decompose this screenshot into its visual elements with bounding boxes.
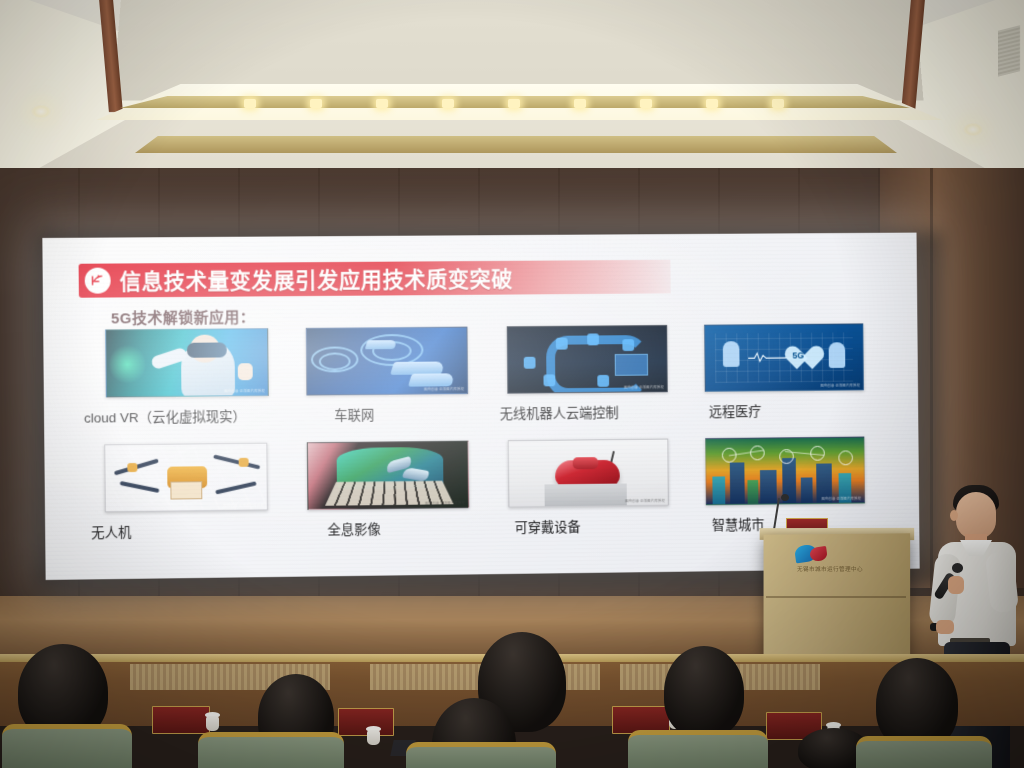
logo-red-shape [809,546,828,562]
slide-grid-cell: 图虫创意·正版图片库授权 无人机 [84,443,282,542]
doctor-icon [828,342,845,368]
ceiling-strip-light [706,99,718,108]
patient-icon [723,341,740,367]
ceiling-strip-light [640,99,652,108]
vehicle-shape [408,373,455,386]
slide-image-caption: 车联网 [334,403,480,424]
podium [764,533,911,656]
conference-room-scene: 信息技术量变发展引发应用技术质变突破 5G技术解锁新应用： [0,0,1024,768]
presenter-hand-on-mic [948,576,964,594]
image-watermark: 图虫创意·正版图片库授权 [424,386,464,391]
desk-nameplate [338,708,394,736]
building [760,470,777,504]
building [801,477,813,503]
ceiling-downlight [962,122,984,137]
slide-title: 信息技术量变发展引发应用技术质变突破 [119,262,513,296]
microphone-capsule-icon [952,563,963,573]
image-watermark: 图虫创意·正版图片库授权 [625,498,665,503]
image-watermark: 图虫创意·正版图片库授权 [624,384,664,389]
ceiling-downlight [30,104,52,119]
drone-rotor [213,454,260,469]
drone-motor [127,463,137,472]
cloud-robot-network-illustration: 图虫创意·正版图片库授权 [507,325,668,394]
organization-logo-icon [795,545,829,563]
ceiling-air-vent [998,25,1020,76]
presenter-ear [950,510,958,521]
audience-chair [856,736,992,768]
badge-5g: 5G [792,351,804,361]
vr-person-hand [238,363,253,380]
drone-motor [239,458,249,467]
slide-image-caption: 远程医疗 [709,399,874,420]
telemedicine-screen-grid: 5G [715,332,854,383]
slide-grid-cell: 图虫创意·正版图片库授权 智慧城市 [682,436,875,534]
slide-title-bar: 信息技术量变发展引发应用技术质变突破 [79,260,671,298]
vr-glow [109,343,145,385]
ceiling-strip-light [376,99,388,108]
network-node [622,339,634,351]
presenter-hand-with-clicker [936,620,954,634]
vr-goggles-icon [187,343,227,358]
microphone-head-icon [781,494,789,501]
control-panel-icon [614,354,647,376]
slide-grid-cell: 图虫创意·正版图片库授权 cloud VR（云化虚拟现实） [83,328,281,426]
slide-image-caption: 全息影像 [327,517,481,539]
wearable-device-top [572,457,598,469]
slide-grid-cell: 图虫创意·正版图片库授权 车联网 [284,327,480,425]
ceiling-strip-light [442,99,454,108]
slide-image-grid: 图虫创意·正版图片库授权 cloud VR（云化虚拟现实） [83,323,881,541]
display-pedestal [544,483,626,506]
image-watermark: 图虫创意·正版图片库授权 [223,502,264,507]
slide-grid-cell: 图虫创意·正版图片库授权 无线机器人云端控制 [483,325,678,423]
drone-rotor [120,481,160,493]
ceiling-strip-light [772,99,784,108]
ceiling-strip-light [310,99,322,108]
slide-image-caption: cloud VR（云化虚拟现实） [84,405,281,427]
party-emblem-icon [85,268,111,294]
slide-grid-cell: 5G 图虫创意·正版图片库授权 远程医疗 [681,323,874,420]
podium-panel-seam [766,596,906,598]
network-node [543,374,555,386]
slide-grid-row: 图虫创意·正版图片库授权 无人机 图虫创意·正版图片库授权 [84,436,880,541]
slide-subtitle: 5G技术解锁新应用： [111,306,255,328]
drone-rotor [215,481,257,494]
slide-image-caption: 可穿戴设备 [514,514,678,536]
image-watermark: 图虫创意·正版图片库授权 [425,500,465,505]
network-node [524,357,536,369]
ceiling-strip-light [508,99,520,108]
image-watermark: 图虫创意·正版图片库授权 [224,388,265,393]
drone-package [170,481,202,499]
organization-name: 无锡市城市运行管理中心 [778,565,882,573]
dolphin-shape [402,467,429,482]
wifi-node-icon [838,451,853,466]
image-watermark: 图虫创意·正版图片库授权 [820,382,860,387]
vehicle-shape [365,340,397,349]
ceiling-strip-light [244,99,256,108]
ceiling-strip-light [574,99,586,108]
presenter-head [956,492,996,539]
building [713,476,726,504]
network-node [555,337,567,349]
slide-grid-cell: 图虫创意·正版图片库授权 可穿戴设备 [484,438,679,536]
vr-headset-user-photo: 图虫创意·正版图片库授权 [105,328,269,397]
audience-head [664,646,744,738]
delivery-drone-photo: 图虫创意·正版图片库授权 [104,443,268,513]
network-node [597,375,609,387]
audience-area [0,640,1024,768]
ceiling [0,0,1024,172]
teacup [206,716,219,731]
building [748,480,759,504]
connected-vehicle-network-illustration: 图虫创意·正版图片库授权 [306,327,468,396]
teacup [367,730,380,745]
image-watermark: 图虫创意·正版图片库授权 [821,496,861,501]
telemedicine-5g-screen-illustration: 5G 图虫创意·正版图片库授权 [704,323,864,391]
holographic-display-photo: 图虫创意·正版图片库授权 [307,441,469,510]
red-wearable-device-photo: 图虫创意·正版图片库授权 [508,439,669,508]
building [730,462,745,504]
audience-chair [628,730,768,768]
ceiling-gold-trim-lower [135,136,897,153]
slide-image-caption: 无线机器人云端控制 [500,401,678,423]
audience-chair [406,742,556,768]
slide-image-caption: 无人机 [91,519,282,541]
audience-chair [198,732,344,768]
network-node [587,333,599,345]
slide-grid-row: 图虫创意·正版图片库授权 cloud VR（云化虚拟现实） [83,323,879,426]
audience-chair [2,724,132,768]
desk-nameplate [152,706,210,734]
slide-grid-cell: 图虫创意·正版图片库授权 全息影像 [285,440,481,539]
